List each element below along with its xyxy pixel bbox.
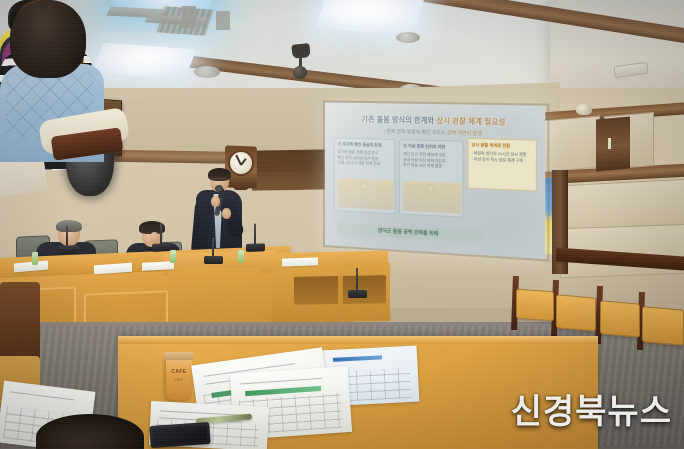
- ceiling-fixture: [613, 62, 648, 79]
- meeting-room-photograph: 기존 돌봄 방식의 한계와 상시 관찰 체계 필요성 - 현재 전화·방문식 확…: [0, 0, 684, 449]
- desk-paper[interactable]: [282, 257, 318, 266]
- foreground-table-edge: [118, 336, 598, 344]
- wall-panel: [560, 179, 684, 232]
- audience-chair[interactable]: [642, 306, 684, 346]
- microphone-arm: [254, 224, 256, 246]
- cup-sub-text: HOT: [166, 378, 192, 382]
- cup-brand-text: CAFE: [166, 369, 192, 375]
- presenter-left-hand: [211, 196, 220, 207]
- cup-lid: [164, 352, 194, 360]
- ceiling-air-vent: [182, 6, 196, 28]
- attendee-foreground-partial: [36, 414, 144, 449]
- audience-chair[interactable]: [516, 289, 554, 322]
- news-watermark: 신경북뉴스: [511, 384, 672, 433]
- water-bottle[interactable]: [32, 252, 38, 265]
- panel-member-hair: [56, 220, 82, 232]
- audience-chair[interactable]: [556, 294, 596, 331]
- phone-screen[interactable]: [153, 425, 208, 445]
- water-bottle[interactable]: [238, 250, 244, 263]
- motion-sensor-icon: [576, 104, 592, 115]
- eyeglasses-icon: [211, 178, 227, 182]
- presenter-right-hand: [222, 208, 231, 219]
- attendee-hair: [10, 0, 86, 78]
- panel-member-hand: [150, 232, 159, 243]
- microphone-base: [246, 243, 265, 252]
- door-handle-icon[interactable]: [608, 138, 611, 149]
- microphone-base: [348, 290, 367, 298]
- microphone-base: [58, 245, 77, 254]
- ceiling-speaker-grille: [396, 32, 420, 43]
- desk-paper[interactable]: [142, 261, 174, 271]
- handout-bar: [333, 355, 383, 362]
- ceiling-projector-icon: [293, 66, 307, 79]
- microphone-arm: [66, 225, 68, 247]
- ceiling-speaker-grille: [194, 66, 220, 78]
- projection-screen-frame: [323, 100, 549, 261]
- coffee-cup[interactable]: CAFE HOT: [166, 356, 192, 400]
- document-line: [240, 378, 322, 385]
- smartphone[interactable]: [149, 422, 210, 448]
- audience-chair[interactable]: [600, 300, 640, 337]
- document-line: [10, 391, 74, 400]
- microphone-base: [204, 256, 223, 264]
- wall-dark-recess: [252, 149, 328, 190]
- attendee-hair: [36, 414, 144, 449]
- microphone-head: [215, 185, 223, 192]
- ceiling-light-panel: [92, 43, 197, 80]
- microphone-arm: [160, 223, 162, 245]
- water-bottle[interactable]: [170, 250, 176, 263]
- microphone-base: [152, 243, 171, 252]
- desk-shelf-divider: [338, 276, 343, 304]
- wall-cabinet-door[interactable]: [596, 117, 630, 172]
- ceiling-air-vent: [216, 11, 230, 30]
